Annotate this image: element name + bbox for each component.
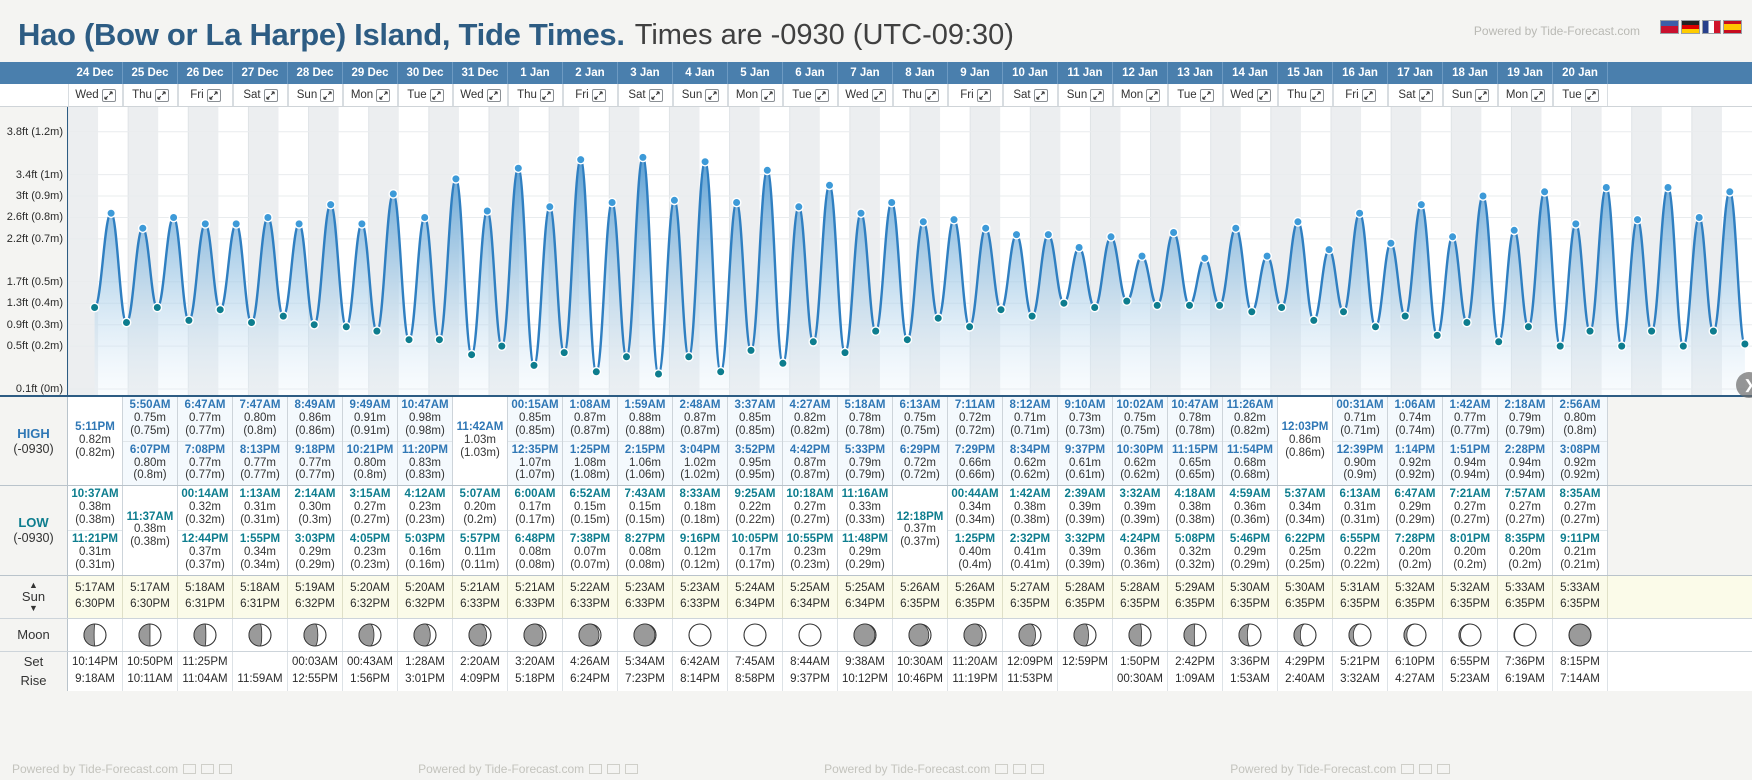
sunrise-time: 5:26AM	[948, 580, 1002, 597]
low-tide-cell[interactable]: 4:18AM0.38m(0.38m)5:08PM0.32m(0.32m)	[1168, 486, 1223, 574]
day-of-week-cell[interactable]: Tue	[1553, 84, 1608, 106]
tide-time: 12:35PM	[508, 444, 562, 457]
tide-event: 5:57PM0.11m(0.11m)	[453, 530, 507, 575]
date-header-cell[interactable]: 4 Jan	[673, 62, 728, 84]
day-of-week-label: Wed	[75, 89, 98, 101]
date-header-cell[interactable]: 20 Jan	[1553, 62, 1608, 84]
moon-phase-icon	[1127, 622, 1153, 648]
tide-height: 0.87m	[783, 457, 837, 470]
day-of-week-cell[interactable]: Tue	[1168, 84, 1223, 106]
tide-height: 0.22m	[728, 501, 782, 514]
y-axis-tick-label: 3.8ft (1.2m)	[7, 126, 63, 138]
high-tide-cell[interactable]: 5:18AM0.78m(0.78m)5:33PM0.79m(0.79m)	[838, 397, 893, 485]
moon-set-rise-cell: 8:15PM7:14AM	[1553, 652, 1608, 691]
flag-de-icon[interactable]	[1681, 20, 1700, 34]
high-tide-cell[interactable]: 7:47AM0.80m(0.8m)8:13PM0.77m(0.77m)	[233, 397, 288, 485]
high-tide-cell[interactable]: 5:50AM0.75m(0.75m)6:07PM0.80m(0.8m)	[123, 397, 178, 485]
expand-day-icon[interactable]	[1200, 89, 1214, 102]
day-of-week-cell[interactable]: Mon	[1498, 84, 1553, 106]
tide-event: 8:12AM0.71m(0.71m)	[1003, 397, 1057, 441]
day-of-week-cell[interactable]: Sun	[288, 84, 343, 106]
expand-day-icon[interactable]	[1090, 89, 1104, 102]
sun-cell: 5:25AM6:34PM	[783, 576, 838, 618]
date-header-cell[interactable]: 11 Jan	[1058, 62, 1113, 84]
day-of-week-label: Tue	[1562, 89, 1581, 101]
tide-time: 8:35AM	[1553, 488, 1607, 501]
low-tide-cell[interactable]: 00:44AM0.34m(0.34m)1:25PM0.40m(0.4m)	[948, 486, 1003, 574]
moonrise-time: 11:19PM	[948, 671, 1002, 688]
sunrise-time: 5:28AM	[1058, 580, 1112, 597]
date-header-cell[interactable]: 26 Dec	[178, 62, 233, 84]
tide-height: 0.33m	[838, 501, 892, 514]
day-of-week-cell[interactable]: Sun	[673, 84, 728, 106]
date-header-cell[interactable]: 12 Jan	[1113, 62, 1168, 84]
high-tide-cell[interactable]: 00:31AM0.71m(0.71m)12:39PM0.90m(0.9m)	[1333, 397, 1388, 485]
day-of-week-cell[interactable]: Sat	[233, 84, 288, 106]
moonset-time: 8:15PM	[1553, 654, 1607, 671]
low-tide-cell[interactable]: 6:00AM0.17m(0.17m)6:48PM0.08m(0.08m)	[508, 486, 563, 574]
day-of-week-cell[interactable]: Tue	[783, 84, 838, 106]
moonrise-label-text: Rise	[20, 671, 46, 691]
tide-time: 8:27PM	[618, 533, 672, 546]
flag-gb-icon[interactable]	[1660, 20, 1679, 34]
expand-day-icon[interactable]	[1531, 89, 1545, 102]
low-tide-cell[interactable]: 5:37AM0.34m(0.34m)6:22PM0.25m(0.25m)	[1278, 486, 1333, 574]
tide-time: 1:42AM	[1003, 488, 1057, 501]
tide-height-alt: (0.85m)	[508, 425, 562, 438]
tide-height-alt: (0.22m)	[1333, 559, 1387, 572]
tide-height-alt: (0.29m)	[1223, 559, 1277, 572]
tide-height-alt: (0.29m)	[288, 559, 342, 572]
day-of-week-cell[interactable]: Thu	[123, 84, 178, 106]
sun-cell: 5:23AM6:33PM	[673, 576, 728, 618]
tide-height: 0.95m	[728, 457, 782, 470]
day-of-week-cell[interactable]: Thu	[1278, 84, 1333, 106]
moonset-time: 00:03AM	[288, 654, 342, 671]
sun-cell: 5:18AM6:31PM	[178, 576, 233, 618]
moon-phase-icon	[467, 622, 493, 648]
tide-time: 3:52PM	[728, 444, 782, 457]
moonrise-time: 9:18AM	[68, 671, 122, 688]
low-tide-cell[interactable]: 6:47AM0.29m(0.29m)7:28PM0.20m(0.2m)	[1388, 486, 1443, 574]
date-header-cell[interactable]: 15 Jan	[1278, 62, 1333, 84]
day-of-week-cell[interactable]: Thu	[893, 84, 948, 106]
expand-day-icon[interactable]	[1475, 89, 1489, 102]
tide-height: 0.30m	[288, 501, 342, 514]
expand-day-icon[interactable]	[1419, 89, 1433, 102]
tide-event: 1:13AM0.31m(0.31m)	[233, 486, 287, 530]
tide-height-alt: (0.62m)	[1003, 469, 1057, 482]
low-tide-cell[interactable]: 6:52AM0.15m(0.15m)7:38PM0.07m(0.07m)	[563, 486, 618, 574]
high-tide-cell[interactable]: 10:02AM0.75m(0.75m)10:30PM0.62m(0.62m)	[1113, 397, 1168, 485]
tide-height-alt: (0.92m)	[1388, 469, 1442, 482]
tide-event: 5:37AM0.34m(0.34m)	[1278, 486, 1332, 530]
tide-time: 4:42PM	[783, 444, 837, 457]
day-of-week-label: Mon	[1506, 89, 1528, 101]
low-tide-cell[interactable]: 3:15AM0.27m(0.27m)4:05PM0.23m(0.23m)	[343, 486, 398, 574]
day-of-week-cell[interactable]: Sat	[1003, 84, 1058, 106]
high-tide-cell[interactable]: 12:03PM0.86m(0.86m)	[1278, 397, 1333, 485]
high-tide-cell[interactable]: 2:18AM0.79m(0.79m)2:28PM0.94m(0.94m)	[1498, 397, 1553, 485]
low-tide-cell[interactable]: 5:07AM0.20m(0.2m)5:57PM0.11m(0.11m)	[453, 486, 508, 574]
low-tide-cell[interactable]: 11:37AM0.38m(0.38m)	[123, 486, 178, 574]
high-tide-cell[interactable]: 10:47AM0.78m(0.78m)11:15PM0.65m(0.65m)	[1168, 397, 1223, 485]
date-header-cell[interactable]: 18 Jan	[1443, 62, 1498, 84]
expand-day-icon[interactable]	[1146, 89, 1160, 102]
tide-event: 4:24PM0.36m(0.36m)	[1113, 530, 1167, 575]
tide-time: 2:56AM	[1553, 399, 1607, 412]
moonset-time: 1:50PM	[1113, 654, 1167, 671]
tide-height: 0.98m	[398, 412, 452, 425]
expand-day-icon[interactable]	[540, 89, 554, 102]
day-of-week-cell[interactable]: Sat	[618, 84, 673, 106]
tide-time: 7:43AM	[618, 488, 672, 501]
expand-day-icon[interactable]	[320, 89, 334, 102]
moonrise-time: 3:32AM	[1333, 671, 1387, 688]
tide-height: 0.20m	[1388, 546, 1442, 559]
tide-event: 6:55PM0.22m(0.22m)	[1333, 530, 1387, 575]
moon-phase-icon	[1072, 622, 1098, 648]
day-of-week-cell[interactable]: Wed	[68, 84, 123, 106]
date-header-cell[interactable]: 8 Jan	[893, 62, 948, 84]
low-tide-cell[interactable]: 10:18AM0.27m(0.27m)10:55PM0.23m(0.23m)	[783, 486, 838, 574]
day-of-week-cell[interactable]: Fri	[178, 84, 233, 106]
tide-height: 0.23m	[343, 546, 397, 559]
date-header-cell[interactable]: 2 Jan	[563, 62, 618, 84]
tide-height: 0.75m	[1113, 412, 1167, 425]
tide-height: 0.80m	[123, 457, 177, 470]
expand-day-icon[interactable]	[1034, 89, 1048, 102]
date-header-cell[interactable]: 7 Jan	[838, 62, 893, 84]
day-of-week-cell[interactable]: Tue	[398, 84, 453, 106]
footer-flag-gb-icon	[589, 764, 602, 774]
moonrise-time: 10:46PM	[893, 671, 947, 688]
tide-height-alt: (0.87m)	[673, 425, 727, 438]
date-header-cell[interactable]: 25 Dec	[123, 62, 178, 84]
tide-height: 0.29m	[838, 546, 892, 559]
low-tide-cell[interactable]: 8:35AM0.27m(0.27m)9:11PM0.21m(0.21m)	[1553, 486, 1608, 574]
date-header-cell[interactable]: 1 Jan	[508, 62, 563, 84]
moon-phase-cell	[893, 619, 948, 651]
day-of-week-cell[interactable]: Fri	[563, 84, 618, 106]
day-of-week-label: Fri	[190, 89, 203, 101]
tide-height: 0.20m	[1443, 546, 1497, 559]
high-tide-cell[interactable]: 1:08AM0.87m(0.87m)1:25PM1.08m(1.08m)	[563, 397, 618, 485]
moon-set-rise-cell: 4:26AM6:24PM	[563, 652, 618, 691]
tide-height-alt: (0.15m)	[618, 514, 672, 527]
day-of-week-cell[interactable]: Sat	[1388, 84, 1443, 106]
high-tide-cell[interactable]: 6:47AM0.77m(0.77m)7:08PM0.77m(0.77m)	[178, 397, 233, 485]
tide-time: 11:42AM	[453, 421, 507, 434]
high-tide-cell[interactable]: 8:12AM0.71m(0.71m)8:34PM0.62m(0.62m)	[1003, 397, 1058, 485]
low-tide-cell[interactable]: 3:32AM0.39m(0.39m)4:24PM0.36m(0.36m)	[1113, 486, 1168, 574]
moon-phase-icon	[1237, 622, 1263, 648]
tide-time: 8:01PM	[1443, 533, 1497, 546]
tide-time: 6:22PM	[1278, 533, 1332, 546]
sun-cell: 5:20AM6:32PM	[398, 576, 453, 618]
tide-time: 00:44AM	[948, 488, 1002, 501]
tide-height: 0.78m	[838, 412, 892, 425]
flag-fr-icon[interactable]	[1702, 20, 1721, 34]
tide-height-alt: (0.4m)	[948, 559, 1002, 572]
high-tide-cell[interactable]: 2:56AM0.80m(0.8m)3:08PM0.92m(0.92m)	[1553, 397, 1608, 485]
moonrise-time: 00:30AM	[1113, 671, 1167, 688]
tide-height-alt: (0.27m)	[1443, 514, 1497, 527]
expand-day-icon[interactable]	[649, 89, 663, 102]
tide-height-alt: (0.65m)	[1168, 469, 1222, 482]
tide-event: 2:56AM0.80m(0.8m)	[1553, 397, 1607, 441]
flag-es-icon[interactable]	[1723, 20, 1742, 34]
day-of-week-cell[interactable]: Fri	[1333, 84, 1388, 106]
tide-time: 6:07PM	[123, 444, 177, 457]
tide-height-alt: (0.36m)	[1223, 514, 1277, 527]
tide-height-alt: (0.21m)	[1553, 559, 1607, 572]
tide-height-alt: (0.82m)	[1223, 425, 1277, 438]
tide-time: 5:11PM	[68, 421, 122, 434]
low-tide-cell[interactable]: 9:25AM0.22m(0.22m)10:05PM0.17m(0.17m)	[728, 486, 783, 574]
date-header-cell[interactable]: 29 Dec	[343, 62, 398, 84]
tide-height: 0.36m	[1113, 546, 1167, 559]
expand-day-icon[interactable]	[487, 89, 501, 102]
expand-day-icon[interactable]	[155, 89, 169, 102]
tide-event: 1:42AM0.77m(0.77m)	[1443, 397, 1497, 441]
high-tide-cell[interactable]: 11:42AM1.03m(1.03m)	[453, 397, 508, 485]
expand-day-icon[interactable]	[1257, 89, 1271, 102]
moon-phase-icon	[192, 622, 218, 648]
tide-height-alt: (0.87m)	[783, 469, 837, 482]
high-tide-cell[interactable]: 11:26AM0.82m(0.82m)11:54PM0.68m(0.68m)	[1223, 397, 1278, 485]
day-of-week-label: Sun	[1452, 89, 1472, 101]
y-axis-tick-label: 0.5ft (0.2m)	[7, 340, 63, 352]
tide-height: 0.32m	[1168, 546, 1222, 559]
date-header-cell[interactable]: 5 Jan	[728, 62, 783, 84]
tide-time: 4:18AM	[1168, 488, 1222, 501]
tide-time: 7:38PM	[563, 533, 617, 546]
tide-height-alt: (0.94m)	[1443, 469, 1497, 482]
sun-cell: 5:18AM6:31PM	[233, 576, 288, 618]
date-header-cell[interactable]: 30 Dec	[398, 62, 453, 84]
sunset-time: 6:35PM	[1553, 596, 1607, 613]
date-header-cell[interactable]: 10 Jan	[1003, 62, 1058, 84]
low-tide-cell[interactable]: 1:42AM0.38m(0.38m)2:32PM0.41m(0.41m)	[1003, 486, 1058, 574]
tide-time: 6:52AM	[563, 488, 617, 501]
high-tide-cell[interactable]: 9:49AM0.91m(0.91m)10:21PM0.80m(0.8m)	[343, 397, 398, 485]
day-of-week-cell[interactable]: Wed	[1223, 84, 1278, 106]
moonrise-time: 8:58PM	[728, 671, 782, 688]
date-header-cell[interactable]: 19 Jan	[1498, 62, 1553, 84]
tide-height-alt: (0.12m)	[673, 559, 727, 572]
date-header-cell[interactable]: 24 Dec	[68, 62, 123, 84]
sunset-time: 6:35PM	[1388, 596, 1442, 613]
day-of-week-cell[interactable]: Mon	[343, 84, 398, 106]
tide-time: 11:21PM	[68, 533, 122, 546]
tide-event: 11:54PM0.68m(0.68m)	[1223, 441, 1277, 486]
sunset-time: 6:35PM	[1278, 596, 1332, 613]
high-tide-cell[interactable]: 5:11PM0.82m(0.82m)	[68, 397, 123, 485]
sun-label: ▲ Sun ▼	[0, 576, 68, 618]
high-tide-cell[interactable]: 9:10AM0.73m(0.73m)9:37PM0.61m(0.61m)	[1058, 397, 1113, 485]
moon-phase-icon	[1292, 622, 1318, 648]
day-of-week-cell[interactable]: Sun	[1443, 84, 1498, 106]
tide-height: 0.40m	[948, 546, 1002, 559]
low-tide-cell[interactable]: 2:39AM0.39m(0.39m)3:32PM0.39m(0.39m)	[1058, 486, 1113, 574]
chart-plot-area[interactable]	[68, 107, 1752, 395]
expand-day-icon[interactable]	[264, 89, 278, 102]
tide-height: 0.79m	[1498, 412, 1552, 425]
tide-height-alt: (0.37m)	[178, 559, 232, 572]
low-tide-cell[interactable]: 7:21AM0.27m(0.27m)8:01PM0.20m(0.2m)	[1443, 486, 1498, 574]
expand-day-icon[interactable]	[872, 89, 886, 102]
tide-time: 10:05PM	[728, 533, 782, 546]
language-flags[interactable]	[1660, 20, 1742, 34]
expand-day-icon[interactable]	[1310, 89, 1324, 102]
tide-time: 11:20PM	[398, 444, 452, 457]
high-tide-cell[interactable]: 00:15AM0.85m(0.85m)12:35PM1.07m(1.07m)	[508, 397, 563, 485]
day-of-week-cell[interactable]: Sun	[1058, 84, 1113, 106]
expand-day-icon[interactable]	[705, 89, 719, 102]
tide-event: 00:14AM0.32m(0.32m)	[178, 486, 232, 530]
tide-event: 6:47AM0.77m(0.77m)	[178, 397, 232, 441]
moon-phase-cell	[618, 619, 673, 651]
footer-flag-de-icon	[607, 764, 620, 774]
footer-watermark: Powered by Tide-Forecast.com	[1230, 762, 1450, 776]
sunrise-time: 5:30AM	[1223, 580, 1277, 597]
moonrise-time: 1:56PM	[343, 671, 397, 688]
moonrise-time: 11:53PM	[1003, 671, 1057, 688]
low-tide-cell[interactable]: 10:37AM0.38m(0.38m)11:21PM0.31m(0.31m)	[68, 486, 123, 574]
tide-event: 1:55PM0.34m(0.34m)	[233, 530, 287, 575]
date-header-cell[interactable]: 13 Jan	[1168, 62, 1223, 84]
tide-time: 4:24PM	[1113, 533, 1167, 546]
day-of-week-label: Thu	[1287, 89, 1307, 101]
expand-day-icon[interactable]	[761, 89, 775, 102]
high-tide-cell[interactable]: 1:06AM0.74m(0.74m)1:14PM0.92m(0.92m)	[1388, 397, 1443, 485]
moonset-time	[233, 654, 287, 671]
day-of-week-cell[interactable]: Mon	[728, 84, 783, 106]
high-tide-cell[interactable]: 10:47AM0.98m(0.98m)11:20PM0.83m(0.83m)	[398, 397, 453, 485]
low-tide-cell[interactable]: 6:13AM0.31m(0.31m)6:55PM0.22m(0.22m)	[1333, 486, 1388, 574]
expand-day-icon[interactable]	[977, 89, 991, 102]
tide-height: 0.77m	[178, 412, 232, 425]
sun-cell: 5:30AM6:35PM	[1223, 576, 1278, 618]
tide-time: 2:48AM	[673, 399, 727, 412]
tide-time: 6:47AM	[1388, 488, 1442, 501]
tide-time: 10:37AM	[68, 488, 122, 501]
sun-cell: 5:32AM6:35PM	[1443, 576, 1498, 618]
day-of-week-cell[interactable]: Mon	[1113, 84, 1168, 106]
sunset-time: 6:33PM	[618, 596, 672, 613]
date-header-cell[interactable]: 31 Dec	[453, 62, 508, 84]
moon-phase-cell	[563, 619, 618, 651]
tide-time: 1:13AM	[233, 488, 287, 501]
tide-height: 0.21m	[1553, 546, 1607, 559]
expand-day-icon[interactable]	[207, 89, 221, 102]
moonset-time: 11:25PM	[178, 654, 232, 671]
high-tide-cell[interactable]: 4:27AM0.82m(0.82m)4:42PM0.87m(0.87m)	[783, 397, 838, 485]
moonset-time: 12:09PM	[1003, 654, 1057, 671]
low-tide-cell[interactable]: 7:43AM0.15m(0.15m)8:27PM0.08m(0.08m)	[618, 486, 673, 574]
day-of-week-cell[interactable]: Wed	[453, 84, 508, 106]
low-tide-cell[interactable]: 7:57AM0.27m(0.27m)8:35PM0.20m(0.2m)	[1498, 486, 1553, 574]
tide-curve-svg	[68, 107, 1752, 395]
tide-event: 8:34PM0.62m(0.62m)	[1003, 441, 1057, 486]
high-tide-cell[interactable]: 1:59AM0.88m(0.88m)2:15PM1.06m(1.06m)	[618, 397, 673, 485]
tide-height: 0.32m	[178, 501, 232, 514]
moon-phase-cell	[1498, 619, 1553, 651]
tide-height-alt: (0.78m)	[838, 425, 892, 438]
tide-event: 8:35AM0.27m(0.27m)	[1553, 486, 1607, 530]
tide-height-alt: (0.72m)	[948, 425, 1002, 438]
low-tide-cell[interactable]: 4:59AM0.36m(0.36m)5:46PM0.29m(0.29m)	[1223, 486, 1278, 574]
tide-time: 11:54PM	[1223, 444, 1277, 457]
expand-day-icon[interactable]	[102, 89, 116, 102]
low-tide-cell[interactable]: 4:12AM0.23m(0.23m)5:03PM0.16m(0.16m)	[398, 486, 453, 574]
low-tide-cell[interactable]: 2:14AM0.30m(0.3m)3:03PM0.29m(0.29m)	[288, 486, 343, 574]
expand-day-icon[interactable]	[430, 89, 444, 102]
high-tide-cell[interactable]: 2:48AM0.87m(0.87m)3:04PM1.02m(1.02m)	[673, 397, 728, 485]
tide-height-alt: (0.73m)	[1058, 425, 1112, 438]
moonrise-time: 2:40AM	[1278, 671, 1332, 688]
high-tide-cell[interactable]: 7:11AM0.72m(0.72m)7:29PM0.66m(0.66m)	[948, 397, 1003, 485]
high-tide-cell[interactable]: 8:49AM0.86m(0.86m)9:18PM0.77m(0.77m)	[288, 397, 343, 485]
day-of-week-cell[interactable]: Wed	[838, 84, 893, 106]
y-axis-tick-label: 2.2ft (0.7m)	[7, 233, 63, 245]
date-header-cell[interactable]: 27 Dec	[233, 62, 288, 84]
high-tide-cell[interactable]: 1:42AM0.77m(0.77m)1:51PM0.94m(0.94m)	[1443, 397, 1498, 485]
moonrise-time: 9:37PM	[783, 671, 837, 688]
tide-height: 0.22m	[1333, 546, 1387, 559]
expand-day-icon[interactable]	[376, 89, 390, 102]
low-tide-cell[interactable]: 00:14AM0.32m(0.32m)12:44PM0.37m(0.37m)	[178, 486, 233, 574]
date-header-cell[interactable]: 3 Jan	[618, 62, 673, 84]
moon-phase-icon	[1347, 622, 1373, 648]
expand-day-icon[interactable]	[815, 89, 829, 102]
tide-event: 11:42AM1.03m(1.03m)	[453, 419, 507, 463]
day-of-week-cell[interactable]: Thu	[508, 84, 563, 106]
date-header-cell[interactable]: 9 Jan	[948, 62, 1003, 84]
high-tide-cell[interactable]: 6:13AM0.75m(0.75m)6:29PM0.72m(0.72m)	[893, 397, 948, 485]
date-header-cell[interactable]: 17 Jan	[1388, 62, 1443, 84]
tide-height-alt: (0.75m)	[1113, 425, 1167, 438]
date-header-cell[interactable]: 16 Jan	[1333, 62, 1388, 84]
low-tide-cell[interactable]: 11:16AM0.33m(0.33m)11:48PM0.29m(0.29m)	[838, 486, 893, 574]
tide-time: 7:21AM	[1443, 488, 1497, 501]
moonset-time: 4:29PM	[1278, 654, 1332, 671]
date-header-cell[interactable]: 6 Jan	[783, 62, 838, 84]
tide-time: 7:11AM	[948, 399, 1002, 412]
tide-event: 5:50AM0.75m(0.75m)	[123, 397, 177, 441]
low-tide-cell[interactable]: 8:33AM0.18m(0.18m)9:16PM0.12m(0.12m)	[673, 486, 728, 574]
sunrise-time: 5:20AM	[343, 580, 397, 597]
tide-event: 00:15AM0.85m(0.85m)	[508, 397, 562, 441]
expand-day-icon[interactable]	[592, 89, 606, 102]
date-header-cell[interactable]: 14 Jan	[1223, 62, 1278, 84]
date-header-cell[interactable]: 28 Dec	[288, 62, 343, 84]
day-of-week-cell[interactable]: Fri	[948, 84, 1003, 106]
moon-phase-icon	[1457, 622, 1483, 648]
moon-phase-cell	[508, 619, 563, 651]
sunset-time: 6:32PM	[398, 596, 452, 613]
low-tide-cell[interactable]: 1:13AM0.31m(0.31m)1:55PM0.34m(0.34m)	[233, 486, 288, 574]
moon-phase-icon	[1182, 622, 1208, 648]
expand-day-icon[interactable]	[925, 89, 939, 102]
expand-day-icon[interactable]	[1585, 89, 1599, 102]
high-tide-cell[interactable]: 3:37AM0.85m(0.85m)3:52PM0.95m(0.95m)	[728, 397, 783, 485]
tide-time: 11:37AM	[123, 511, 177, 524]
sun-cell: 5:25AM6:34PM	[838, 576, 893, 618]
low-tide-cell[interactable]: 12:18PM0.37m(0.37m)	[893, 486, 948, 574]
expand-day-icon[interactable]	[1362, 89, 1376, 102]
